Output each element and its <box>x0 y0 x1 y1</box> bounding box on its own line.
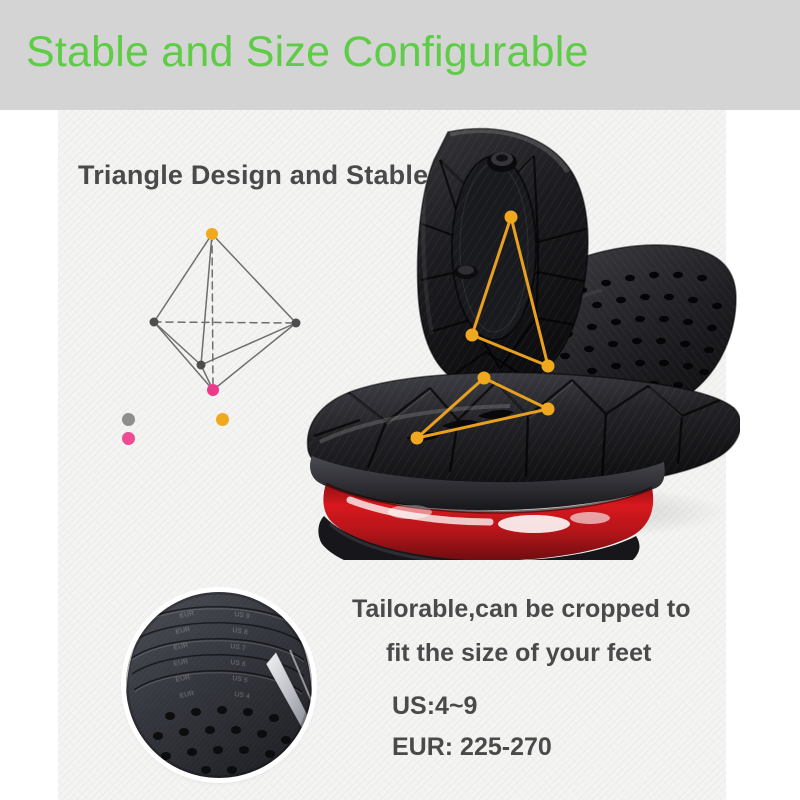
orange-dot <box>216 413 229 426</box>
product-photo-insole <box>290 120 740 560</box>
inset-tailoring-closeup: EUR US 9 EUR US 8 EUR US 7 EUR US 6 EUR … <box>126 592 312 778</box>
gray-dot <box>122 413 135 426</box>
legend-dots <box>110 405 250 455</box>
copy-eur-sizes: EUR: 225-270 <box>392 733 552 762</box>
insole-svg <box>290 120 740 560</box>
copy-tailorable-line1: Tailorable,can be cropped to <box>352 595 691 624</box>
page-title: Stable and Size Configurable <box>26 22 766 82</box>
copy-tailorable-line2: fit the size of your feet <box>386 639 651 668</box>
copy-us-sizes: US:4~9 <box>392 692 477 721</box>
vertex-bottom <box>207 384 219 396</box>
vertex-front <box>197 361 206 370</box>
vertex-apex <box>206 228 218 240</box>
pink-dot <box>122 432 135 445</box>
header-band: Stable and Size Configurable <box>0 0 800 110</box>
product-feature-image: Stable and Size Configurable <box>0 0 800 800</box>
inset-svg: EUR US 9 EUR US 8 EUR US 7 EUR US 6 EUR … <box>126 592 312 778</box>
vertex-left <box>150 318 159 327</box>
